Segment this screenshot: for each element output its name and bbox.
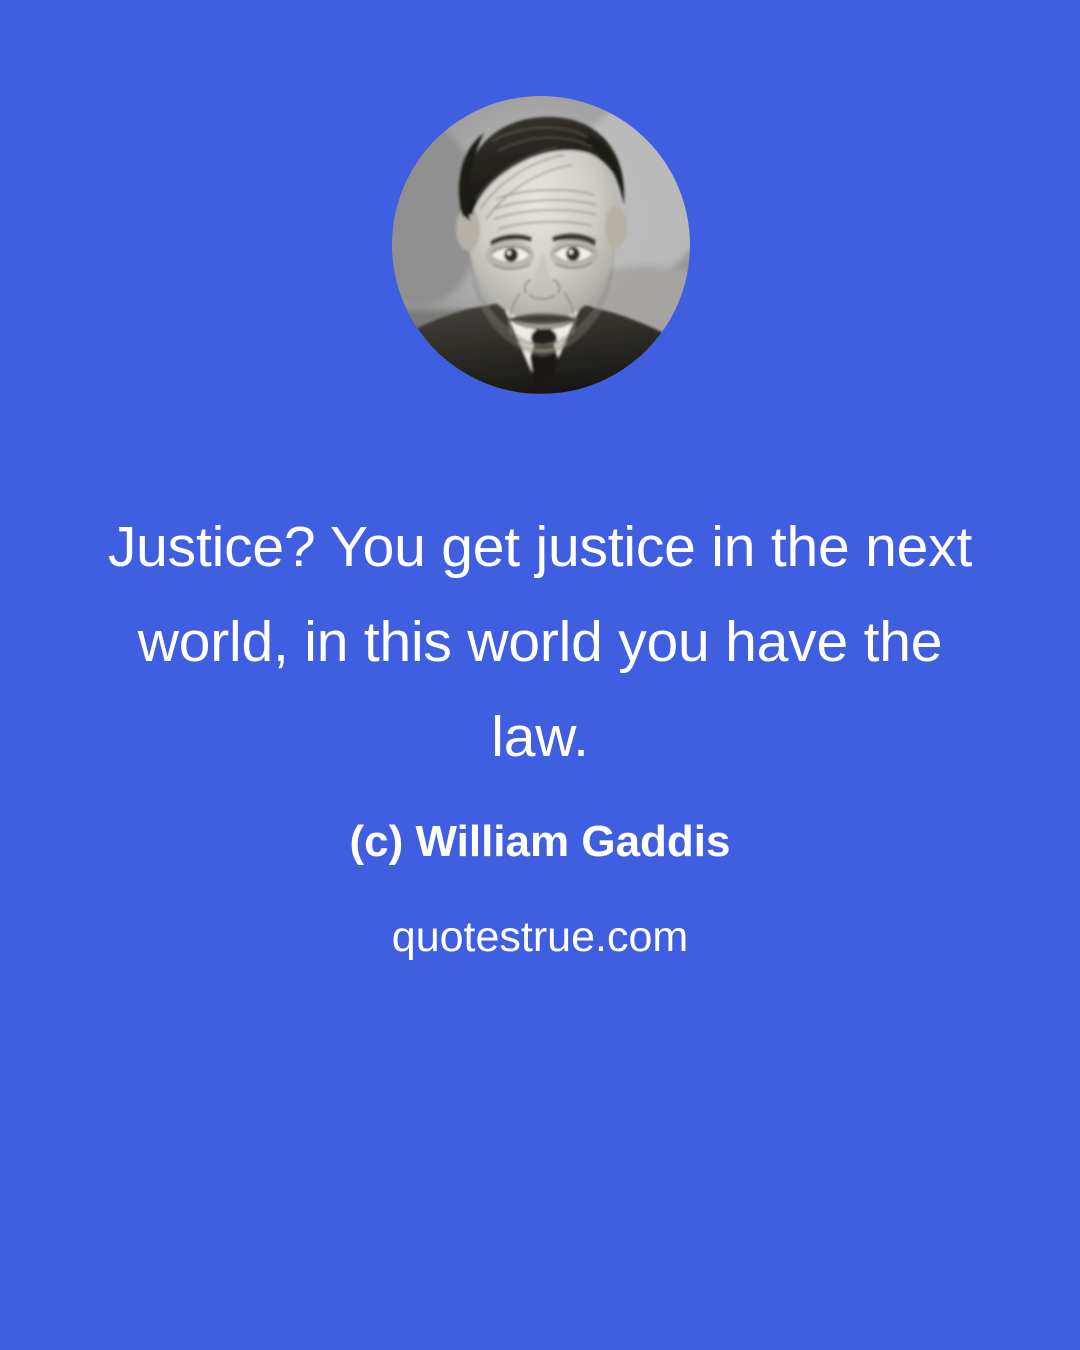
quote-text-block: Justice? You get justice in the next wor… bbox=[0, 500, 1080, 964]
quote-attribution: (c) William Gaddis bbox=[0, 814, 1080, 870]
quote-line-1: Justice? You get justice in the next bbox=[0, 500, 1080, 595]
quote-line-2: world, in this world you have the bbox=[0, 595, 1080, 690]
portrait-container bbox=[392, 95, 690, 395]
quote-line-3: law. bbox=[0, 690, 1080, 785]
author-portrait-photo bbox=[392, 95, 690, 395]
quote-card: Justice? You get justice in the next wor… bbox=[0, 0, 1080, 1350]
site-credit: quotestrue.com bbox=[0, 910, 1080, 964]
